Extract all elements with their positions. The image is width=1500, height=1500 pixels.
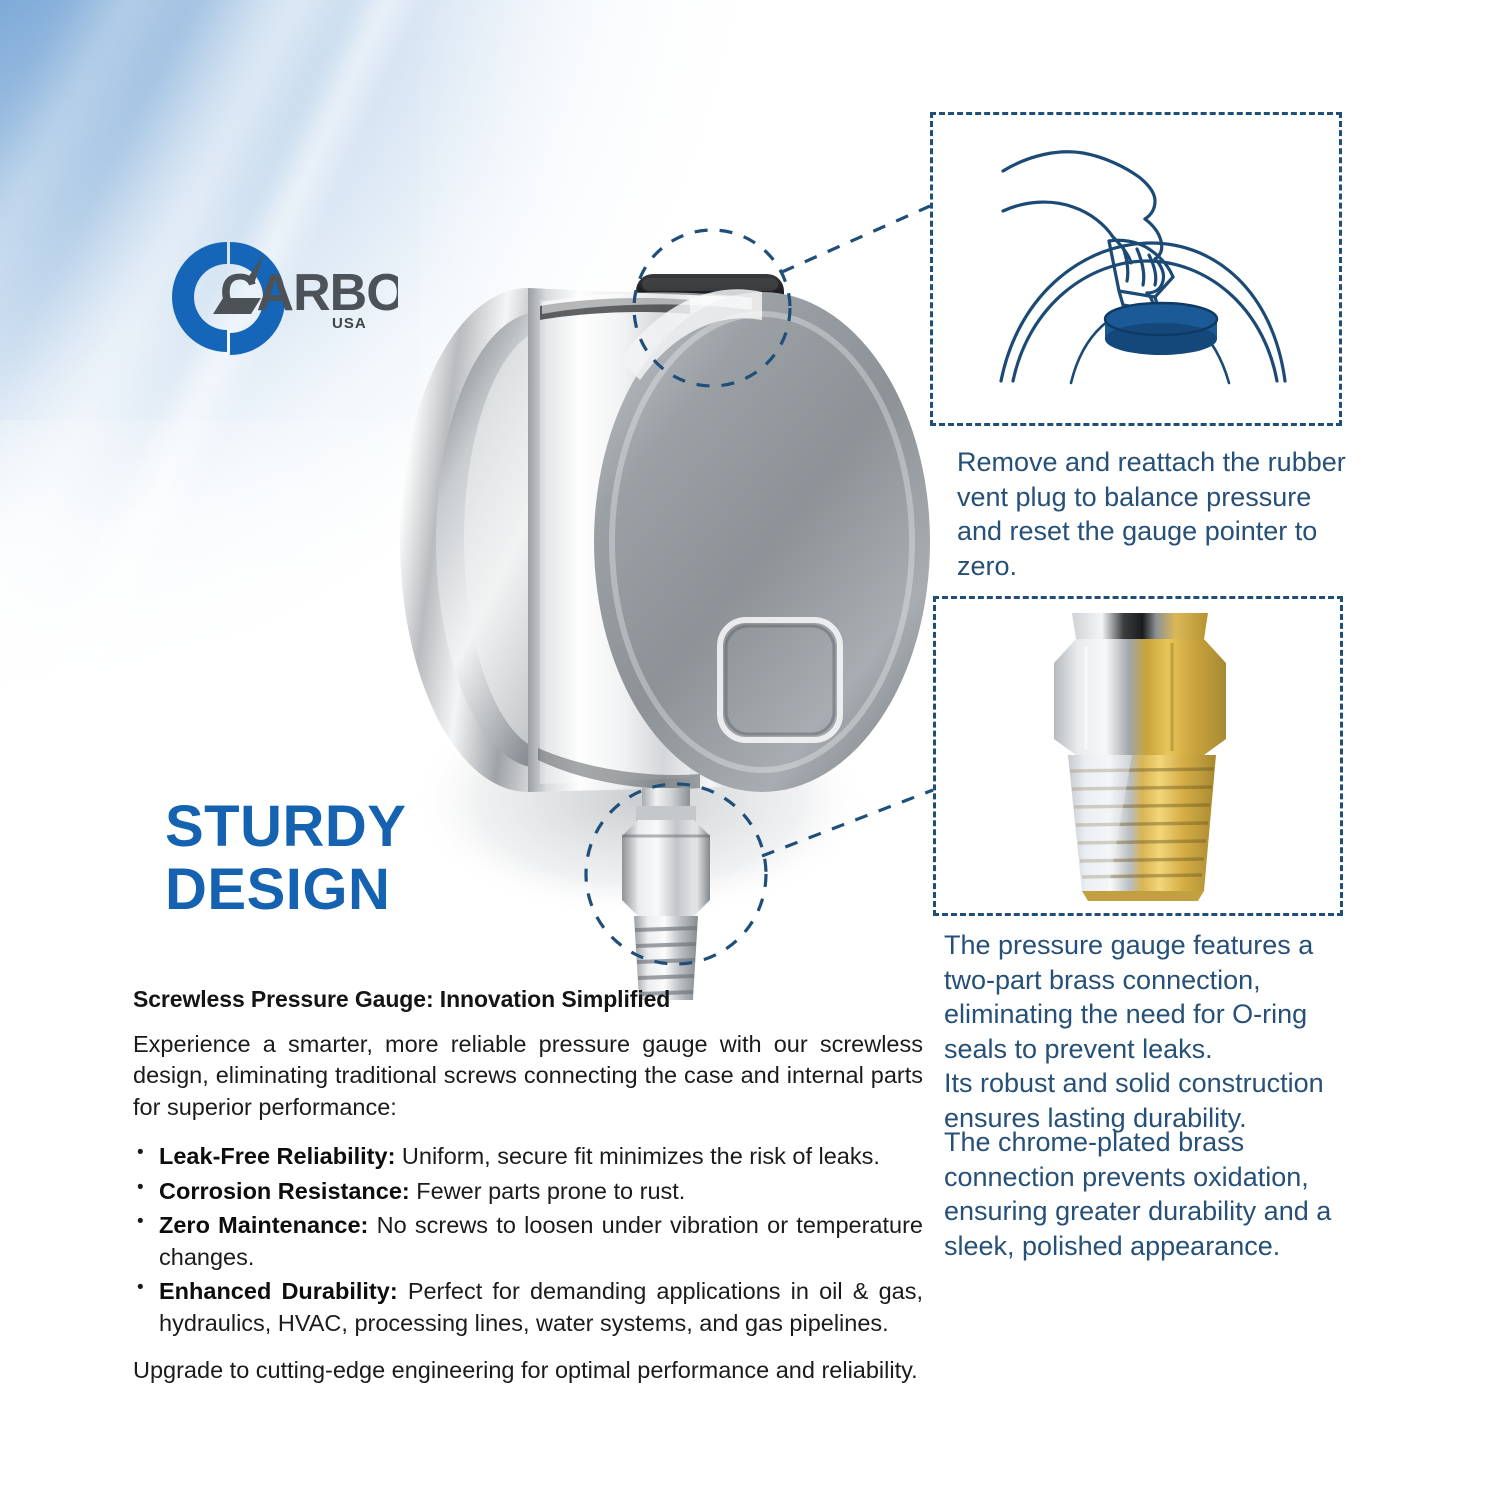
vent-plug-disc-icon [1105, 303, 1217, 355]
list-item: Zero Maintenance: No screws to loosen un… [133, 1210, 923, 1273]
callout-box-vent-plug [930, 112, 1342, 426]
carbo-logo: CARBO USA [168, 238, 398, 356]
callout-box-brass-fitting [933, 596, 1343, 916]
list-item: Enhanced Durability: Perfect for demandi… [133, 1276, 923, 1339]
feature-bullet-list: Leak-Free Reliability: Uniform, secure f… [133, 1141, 923, 1339]
bullet-text: Uniform, secure fit minimizes the risk o… [402, 1143, 880, 1169]
bullet-label: Corrosion Resistance: [159, 1178, 410, 1204]
infographic-page: CARBO USA [0, 0, 1500, 1500]
headline-line-1: STURDY [165, 794, 406, 859]
bullet-label: Enhanced Durability: [159, 1278, 398, 1304]
copy-outro: Upgrade to cutting-edge engineering for … [133, 1355, 923, 1386]
caption-brass-connection: The pressure gauge features a two-part b… [944, 928, 1359, 1135]
bullet-label: Leak-Free Reliability: [159, 1143, 395, 1169]
logo-wordmark: CARBO [220, 264, 398, 322]
list-item: Leak-Free Reliability: Uniform, secure f… [133, 1141, 923, 1172]
two-part-brass-chrome-fitting-photo-icon [936, 599, 1340, 913]
carbo-c-monogram-icon: CARBO USA [168, 238, 398, 356]
left-copy-block: Screwless Pressure Gauge: Innovation Sim… [133, 986, 923, 1387]
bullet-label: Zero Maintenance: [159, 1212, 368, 1238]
caption-chrome-plating: The chrome-plated brass connection preve… [944, 1125, 1349, 1263]
list-item: Corrosion Resistance: Fewer parts prone … [133, 1176, 923, 1207]
hand-removing-vent-plug-illustration-icon [933, 115, 1339, 423]
logo-sub-usa: USA [332, 315, 367, 332]
caption-brass-p1: The pressure gauge features a two-part b… [944, 928, 1359, 1066]
copy-intro: Experience a smarter, more reliable pres… [133, 1029, 923, 1123]
copy-heading: Screwless Pressure Gauge: Innovation Sim… [133, 986, 923, 1013]
page-headline: STURDY DESIGN [165, 796, 545, 921]
headline-line-2: DESIGN [165, 859, 545, 922]
caption-vent-plug: Remove and reattach the rubber vent plug… [957, 445, 1357, 583]
bullet-text: Fewer parts prone to rust. [416, 1178, 685, 1204]
